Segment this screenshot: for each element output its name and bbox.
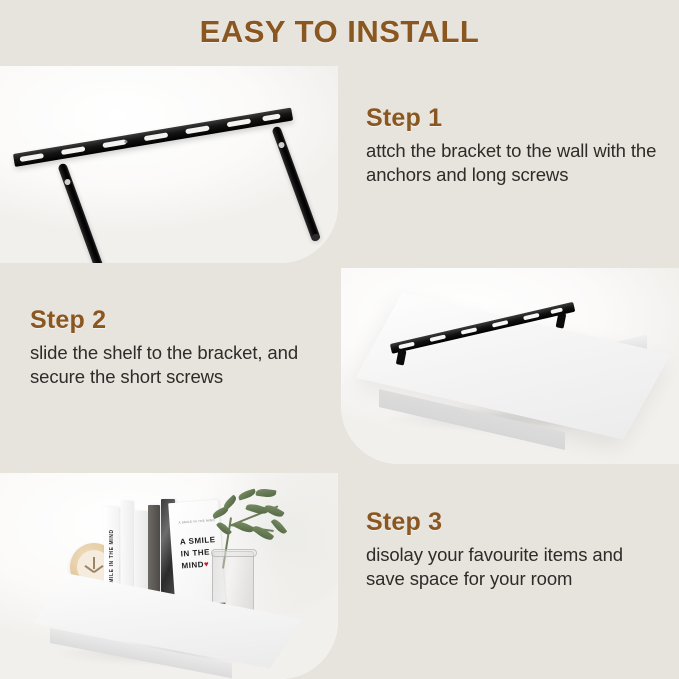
bracket-pilot-hole: [124, 140, 127, 143]
bracket-slot: [102, 139, 126, 148]
step-1-image-panel: [0, 66, 338, 263]
step-3-title: Step 3: [366, 508, 666, 537]
bracket-bar: [13, 108, 293, 167]
step-2-title: Step 2: [30, 306, 330, 335]
shelf-with-bracket-illustration: [341, 268, 679, 464]
plant-leaf: [237, 488, 256, 500]
bracket-slot: [227, 118, 251, 127]
step-1-title: Step 1: [366, 104, 666, 133]
bracket-support-rod-right: [271, 125, 320, 241]
step-2-description: slide the shelf to the bracket, and secu…: [30, 341, 330, 390]
bracket-slot: [461, 327, 477, 334]
bracket-slot: [398, 342, 414, 349]
plant-leaf: [252, 523, 275, 542]
bracket-slot: [144, 132, 168, 141]
plant-leaf: [233, 519, 254, 535]
bracket-slot: [20, 153, 44, 162]
bracket-slot: [430, 334, 446, 341]
screw-head: [64, 178, 72, 186]
product-instruction-graphic: EASY TO INSTALL S: [0, 0, 679, 679]
bracket-slot: [185, 125, 209, 134]
bracket-support-rod-left: [57, 162, 106, 263]
clock-hands: [93, 557, 95, 569]
step-3-text-block: Step 3 disolay your favourite items and …: [366, 508, 666, 592]
rod-end-cap: [310, 233, 321, 243]
step-3-image-panel: A SMILE IN THE MIND A SMILE IN THE MIND: [0, 473, 338, 679]
step-2-text-block: Step 2 slide the shelf to the bracket, a…: [30, 306, 330, 390]
step-2-image-panel: [341, 268, 679, 464]
bracket-foot-right: [556, 312, 567, 328]
step-1-text-block: Step 1 attch the bracket to the wall wit…: [366, 104, 666, 188]
plant-leaf: [271, 517, 288, 535]
bracket-slot: [523, 313, 539, 320]
bracket-slot: [61, 146, 85, 155]
step-3-description: disolay your favourite items and save sp…: [366, 543, 666, 592]
page-title: EASY TO INSTALL: [0, 14, 679, 50]
styled-shelf-illustration: A SMILE IN THE MIND A SMILE IN THE MIND: [0, 473, 338, 679]
plant-leaf: [222, 495, 239, 511]
step-1-description: attch the bracket to the wall with the a…: [366, 139, 666, 188]
bracket-slot: [492, 320, 508, 327]
plant-leaf: [256, 488, 277, 499]
bracket-slot: [262, 113, 281, 121]
screw-head: [278, 141, 286, 149]
plant-leaf: [263, 503, 284, 520]
wall-bracket-illustration: [0, 66, 338, 263]
